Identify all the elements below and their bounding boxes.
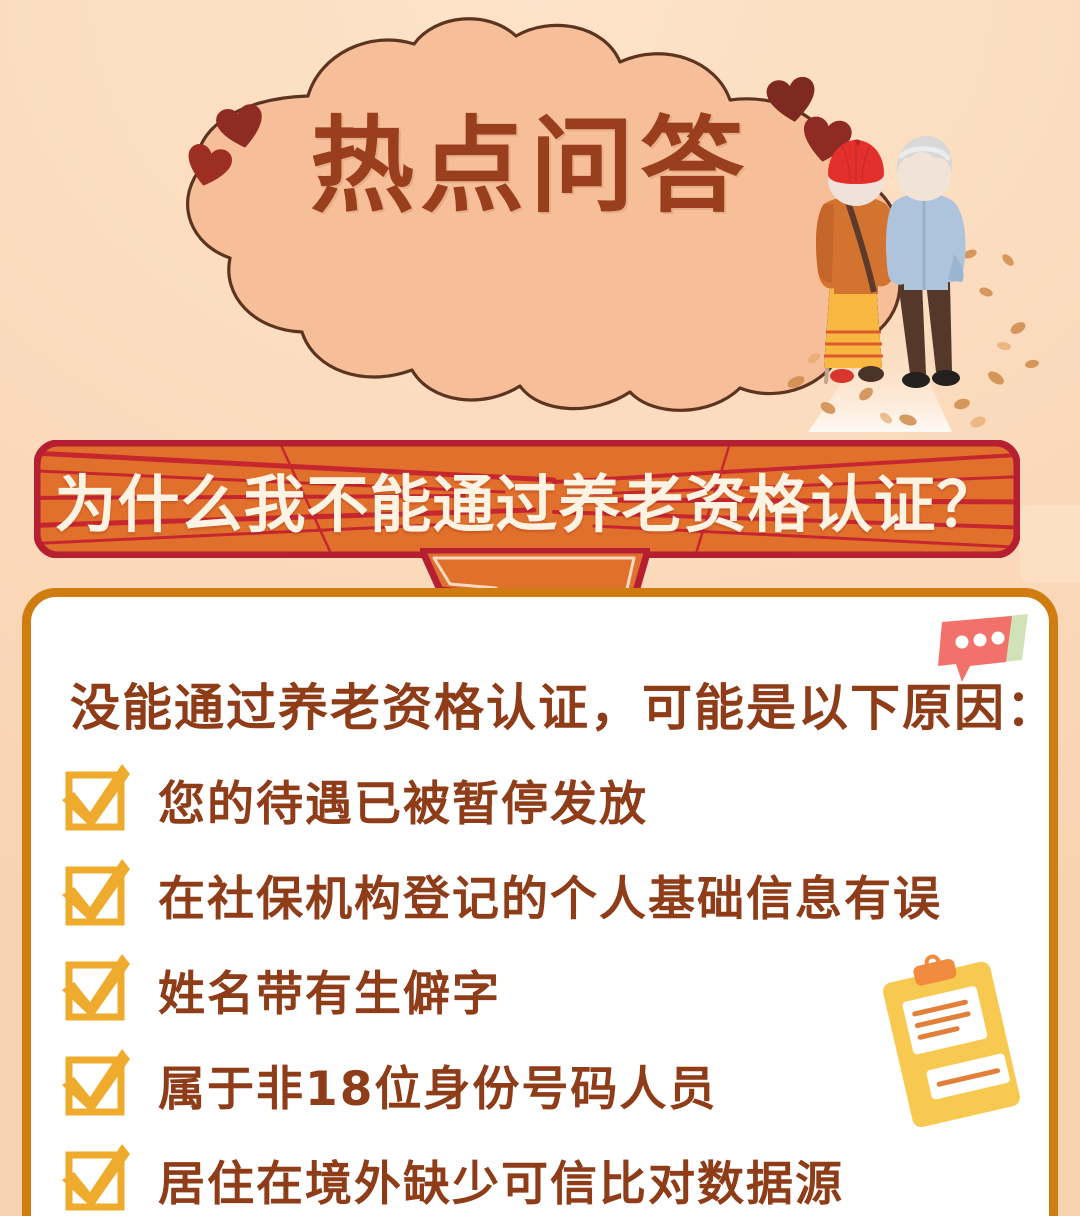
checkbox-checked-icon [60, 859, 132, 931]
list-item: 您的待遇已被暂停发放 [60, 752, 1020, 847]
poster-root: 热点问答 [0, 0, 1080, 1216]
checkbox-checked-icon [60, 954, 132, 1026]
checkbox-checked-icon [60, 764, 132, 836]
list-item: 姓名带有生僻字 [60, 942, 1020, 1037]
card-heading: 没能通过养老资格认证，可能是以下原因： [70, 668, 1058, 740]
list-item-label: 居住在境外缺少可信比对数据源 [158, 1145, 844, 1214]
list-item-label: 姓名带有生僻字 [158, 955, 501, 1024]
list-item-label: 属于非18位身份号码人员 [158, 1050, 717, 1119]
checkbox-checked-icon [60, 1049, 132, 1121]
checkbox-checked-icon [60, 1144, 132, 1216]
page-title: 热点问答 [250, 112, 810, 221]
reason-list: 您的待遇已被暂停发放 在社保机构登记的个人基础信息有误 姓名带有生僻字 [60, 752, 1020, 1216]
question-banner-text: 为什么我不能通过养老资格认证？ [34, 440, 1020, 558]
list-item: 居住在境外缺少可信比对数据源 [60, 1132, 1020, 1216]
list-item: 在社保机构登记的个人基础信息有误 [60, 847, 1020, 942]
list-item: 属于非18位身份号码人员 [60, 1037, 1020, 1132]
question-banner: 为什么我不能通过养老资格认证？ [34, 440, 1020, 558]
edge-decoration-panel [1020, 505, 1080, 583]
list-item-label: 在社保机构登记的个人基础信息有误 [158, 860, 942, 929]
elderly-couple-illustration [756, 132, 1080, 432]
list-item-label: 您的待遇已被暂停发放 [158, 765, 648, 834]
